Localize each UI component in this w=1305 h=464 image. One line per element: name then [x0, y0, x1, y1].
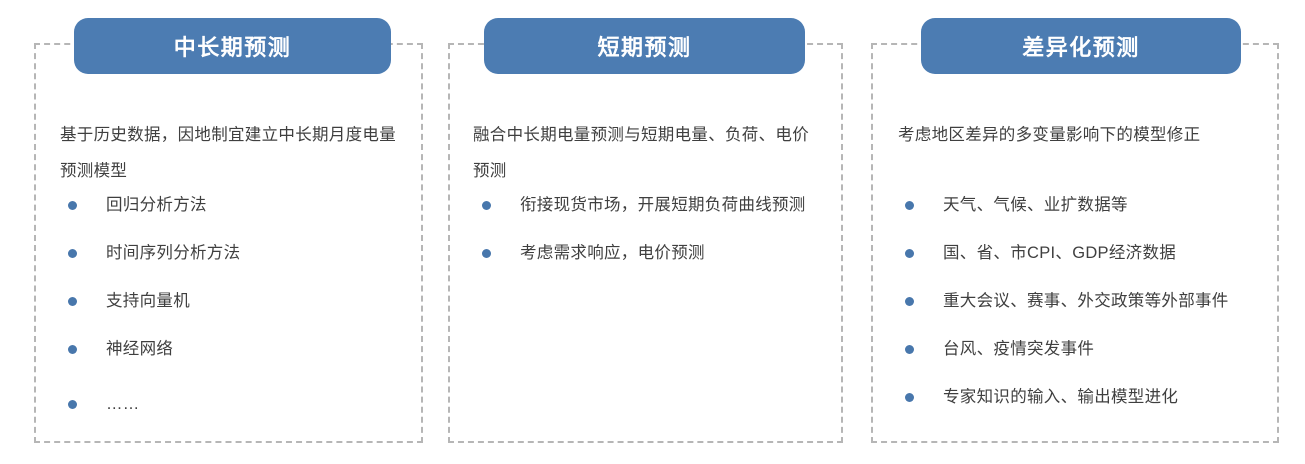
list-item: 国、省、市CPI、GDP经济数据: [897, 239, 1257, 268]
bullet-dot-icon: [905, 201, 914, 210]
list-item-label: 台风、疫情突发事件: [943, 335, 1257, 364]
panel-bullet-list: 衔接现货市场，开展短期负荷曲线预测 考虑需求响应，电价预测: [474, 191, 824, 287]
panel-title-badge: 差异化预测: [921, 18, 1241, 74]
bullet-dot-icon: [905, 297, 914, 306]
bullet-dot-icon: [68, 345, 77, 354]
panel-title: 差异化预测: [1022, 30, 1140, 62]
panel-title-badge: 中长期预测: [74, 18, 391, 74]
list-item-label: 支持向量机: [106, 287, 405, 316]
list-item-label: 神经网络: [106, 335, 405, 364]
list-item-label: 天气、气候、业扩数据等: [943, 191, 1257, 220]
list-item-label: 回归分析方法: [106, 191, 405, 220]
list-item: 天气、气候、业扩数据等: [897, 191, 1257, 220]
list-item-label: 国、省、市CPI、GDP经济数据: [943, 239, 1257, 268]
bullet-dot-icon: [905, 393, 914, 402]
list-item: 重大会议、赛事、外交政策等外部事件: [897, 287, 1257, 316]
bullet-dot-icon: [68, 201, 77, 210]
bullet-dot-icon: [482, 201, 491, 210]
list-item: 支持向量机: [60, 287, 405, 316]
list-item: 考虑需求响应，电价预测: [474, 239, 824, 268]
bullet-dot-icon: [68, 297, 77, 306]
list-item-label: 衔接现货市场，开展短期负荷曲线预测: [520, 191, 824, 220]
list-item: 神经网络: [60, 335, 405, 364]
panel-title: 短期预测: [597, 30, 691, 62]
list-item-label: 专家知识的输入、输出模型进化: [943, 383, 1257, 412]
list-item: 衔接现货市场，开展短期负荷曲线预测: [474, 191, 824, 220]
list-item: ……: [60, 390, 405, 419]
panel-intro-text: 基于历史数据，因地制宜建立中长期月度电量预测模型: [60, 117, 400, 189]
bullet-dot-icon: [68, 400, 77, 409]
forecast-panels-board: 基于历史数据，因地制宜建立中长期月度电量预测模型 回归分析方法 时间序列分析方法…: [0, 0, 1305, 464]
panel-title: 中长期预测: [174, 30, 292, 62]
panel-bullet-list: 回归分析方法 时间序列分析方法 支持向量机 神经网络 ……: [60, 191, 405, 438]
panel-intro-text: 融合中长期电量预测与短期电量、负荷、电价预测: [473, 117, 819, 189]
list-item: 台风、疫情突发事件: [897, 335, 1257, 364]
list-item: 回归分析方法: [60, 191, 405, 220]
panel-title-badge: 短期预测: [484, 18, 805, 74]
list-item-label: 考虑需求响应，电价预测: [520, 239, 824, 268]
panel-intro-text: 考虑地区差异的多变量影响下的模型修正: [898, 117, 1248, 153]
list-item-label: ……: [106, 390, 405, 419]
list-item: 专家知识的输入、输出模型进化: [897, 383, 1257, 412]
bullet-dot-icon: [68, 249, 77, 258]
bullet-dot-icon: [905, 345, 914, 354]
list-item-label: 时间序列分析方法: [106, 239, 405, 268]
bullet-dot-icon: [905, 249, 914, 258]
panel-bullet-list: 天气、气候、业扩数据等 国、省、市CPI、GDP经济数据 重大会议、赛事、外交政…: [897, 191, 1257, 431]
list-item-label: 重大会议、赛事、外交政策等外部事件: [943, 287, 1257, 316]
bullet-dot-icon: [482, 249, 491, 258]
list-item: 时间序列分析方法: [60, 239, 405, 268]
panel-body: 考虑地区差异的多变量影响下的模型修正 天气、气候、业扩数据等 国、省、市CPI、…: [871, 43, 1279, 443]
panel-body: 融合中长期电量预测与短期电量、负荷、电价预测 衔接现货市场，开展短期负荷曲线预测…: [448, 43, 843, 443]
panel-body: 基于历史数据，因地制宜建立中长期月度电量预测模型 回归分析方法 时间序列分析方法…: [34, 43, 423, 443]
